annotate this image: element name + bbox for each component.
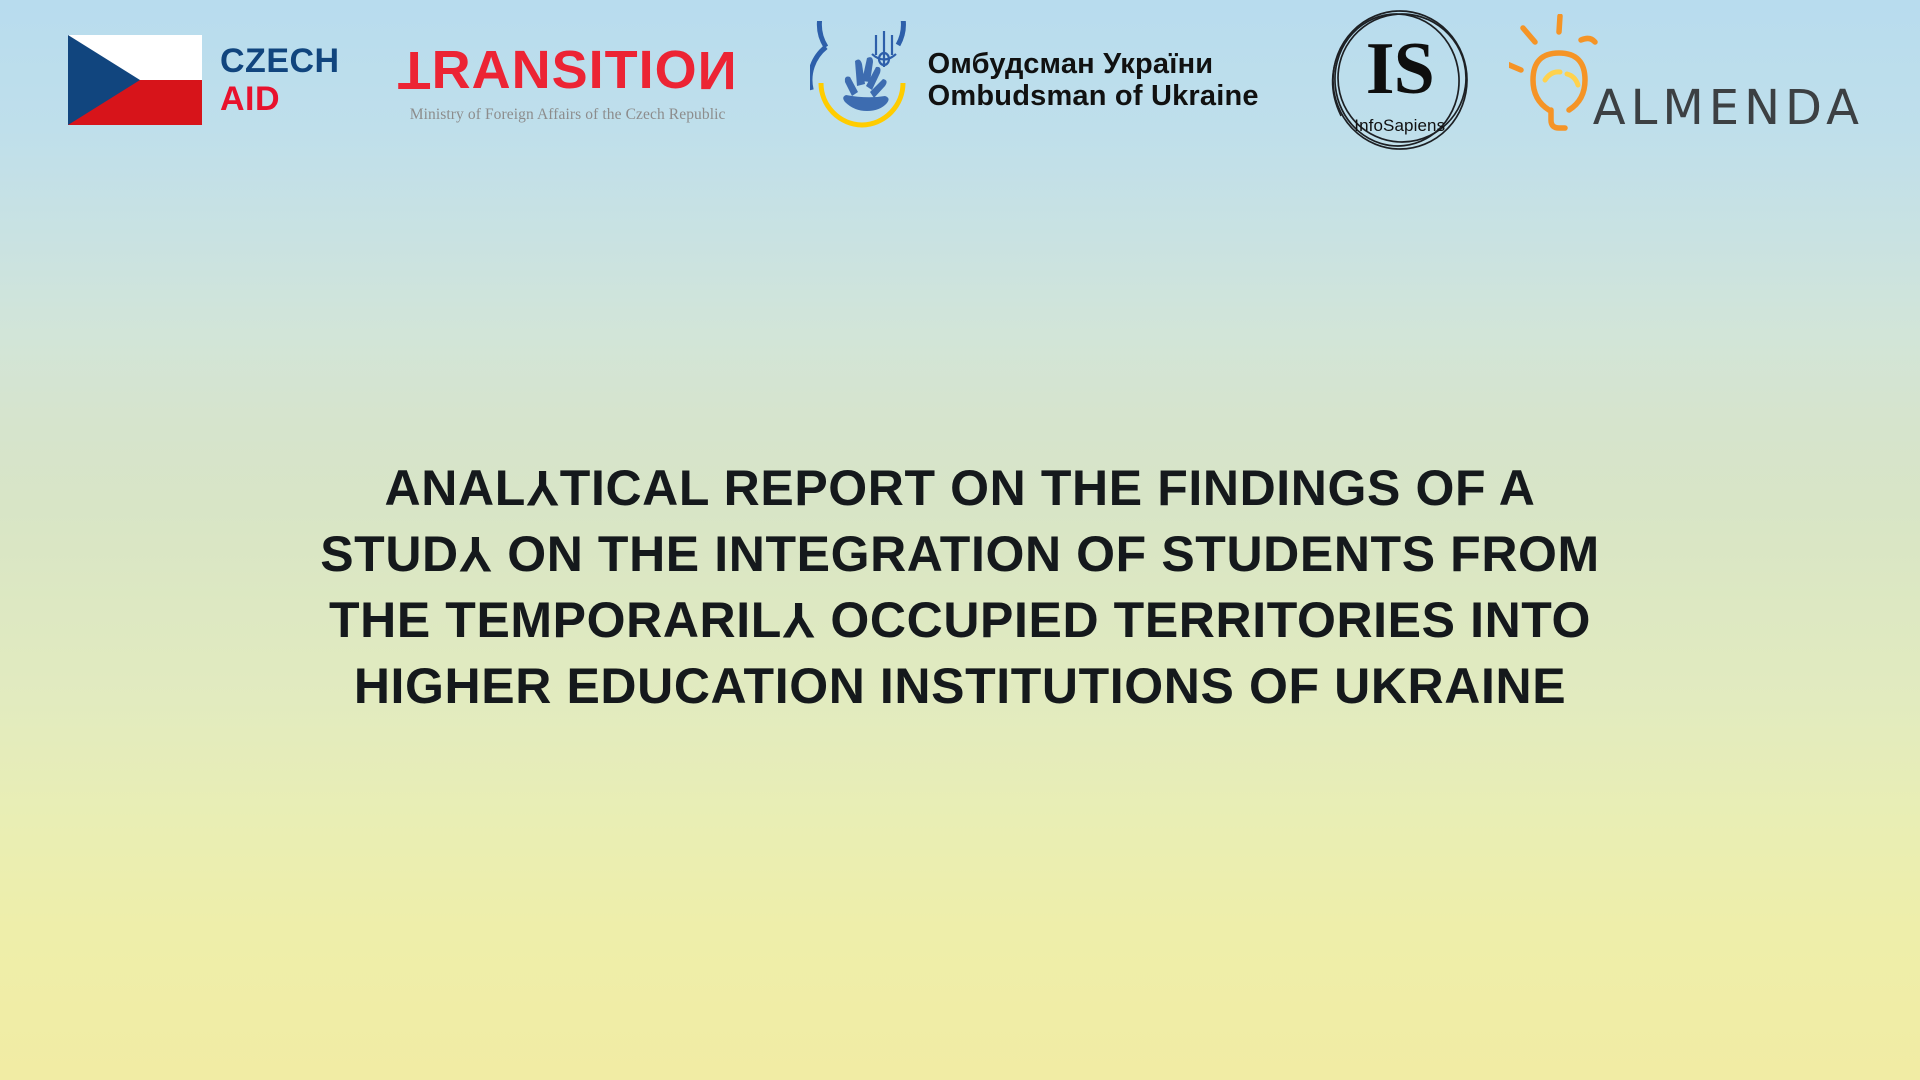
infosapiens-logo: IS InfoSapiens	[1317, 4, 1483, 156]
partner-logo-strip: CZECH AID TRANSITION Ministry of Foreign…	[0, 0, 1920, 160]
transition-logo: TRANSITION Ministry of Foreign Affairs o…	[398, 37, 738, 124]
title-line-2: STUDY ON THE INTEGRATION OF STUDENTS FRO…	[150, 521, 1770, 587]
almenda-wordmark: ALMENDA	[1593, 84, 1864, 132]
almenda-logo: ALMENDA	[1509, 14, 1781, 146]
ombudsman-line-uk: Омбудсман України	[928, 48, 1259, 80]
ombudsman-hand-circle-icon	[810, 21, 914, 139]
title-line-1: ANALYTICAL REPORT ON THE FINDINGS OF A	[150, 455, 1770, 521]
infosapiens-wordmark: InfoSapiens	[1317, 116, 1483, 136]
czech-aid-logo: CZECH AID	[68, 35, 340, 125]
czech-aid-wordmark: CZECH AID	[220, 44, 340, 116]
title-line-4: HIGHER EDUCATION INSTITUTIONS OF UKRAINE	[150, 653, 1770, 719]
ombudsman-line-en: Ombudsman of Ukraine	[928, 80, 1259, 112]
czech-aid-line2: AID	[220, 82, 340, 116]
infosapiens-monogram: IS	[1317, 32, 1483, 106]
title-line-3: THE TEMPORARILY OCCUPIED TERRITORIES INT…	[150, 587, 1770, 653]
transition-subtitle: Ministry of Foreign Affairs of the Czech…	[398, 106, 738, 124]
czech-flag-icon	[68, 35, 202, 125]
czech-aid-line1: CZECH	[220, 44, 340, 78]
transition-wordmark: TRANSITION	[398, 43, 738, 97]
page-title: ANALYTICAL REPORT ON THE FINDINGS OF A S…	[0, 455, 1920, 719]
ombudsman-wordmark: Омбудсман України Ombudsman of Ukraine	[928, 48, 1259, 113]
ombudsman-logo: Омбудсман України Ombudsman of Ukraine	[810, 21, 1259, 139]
